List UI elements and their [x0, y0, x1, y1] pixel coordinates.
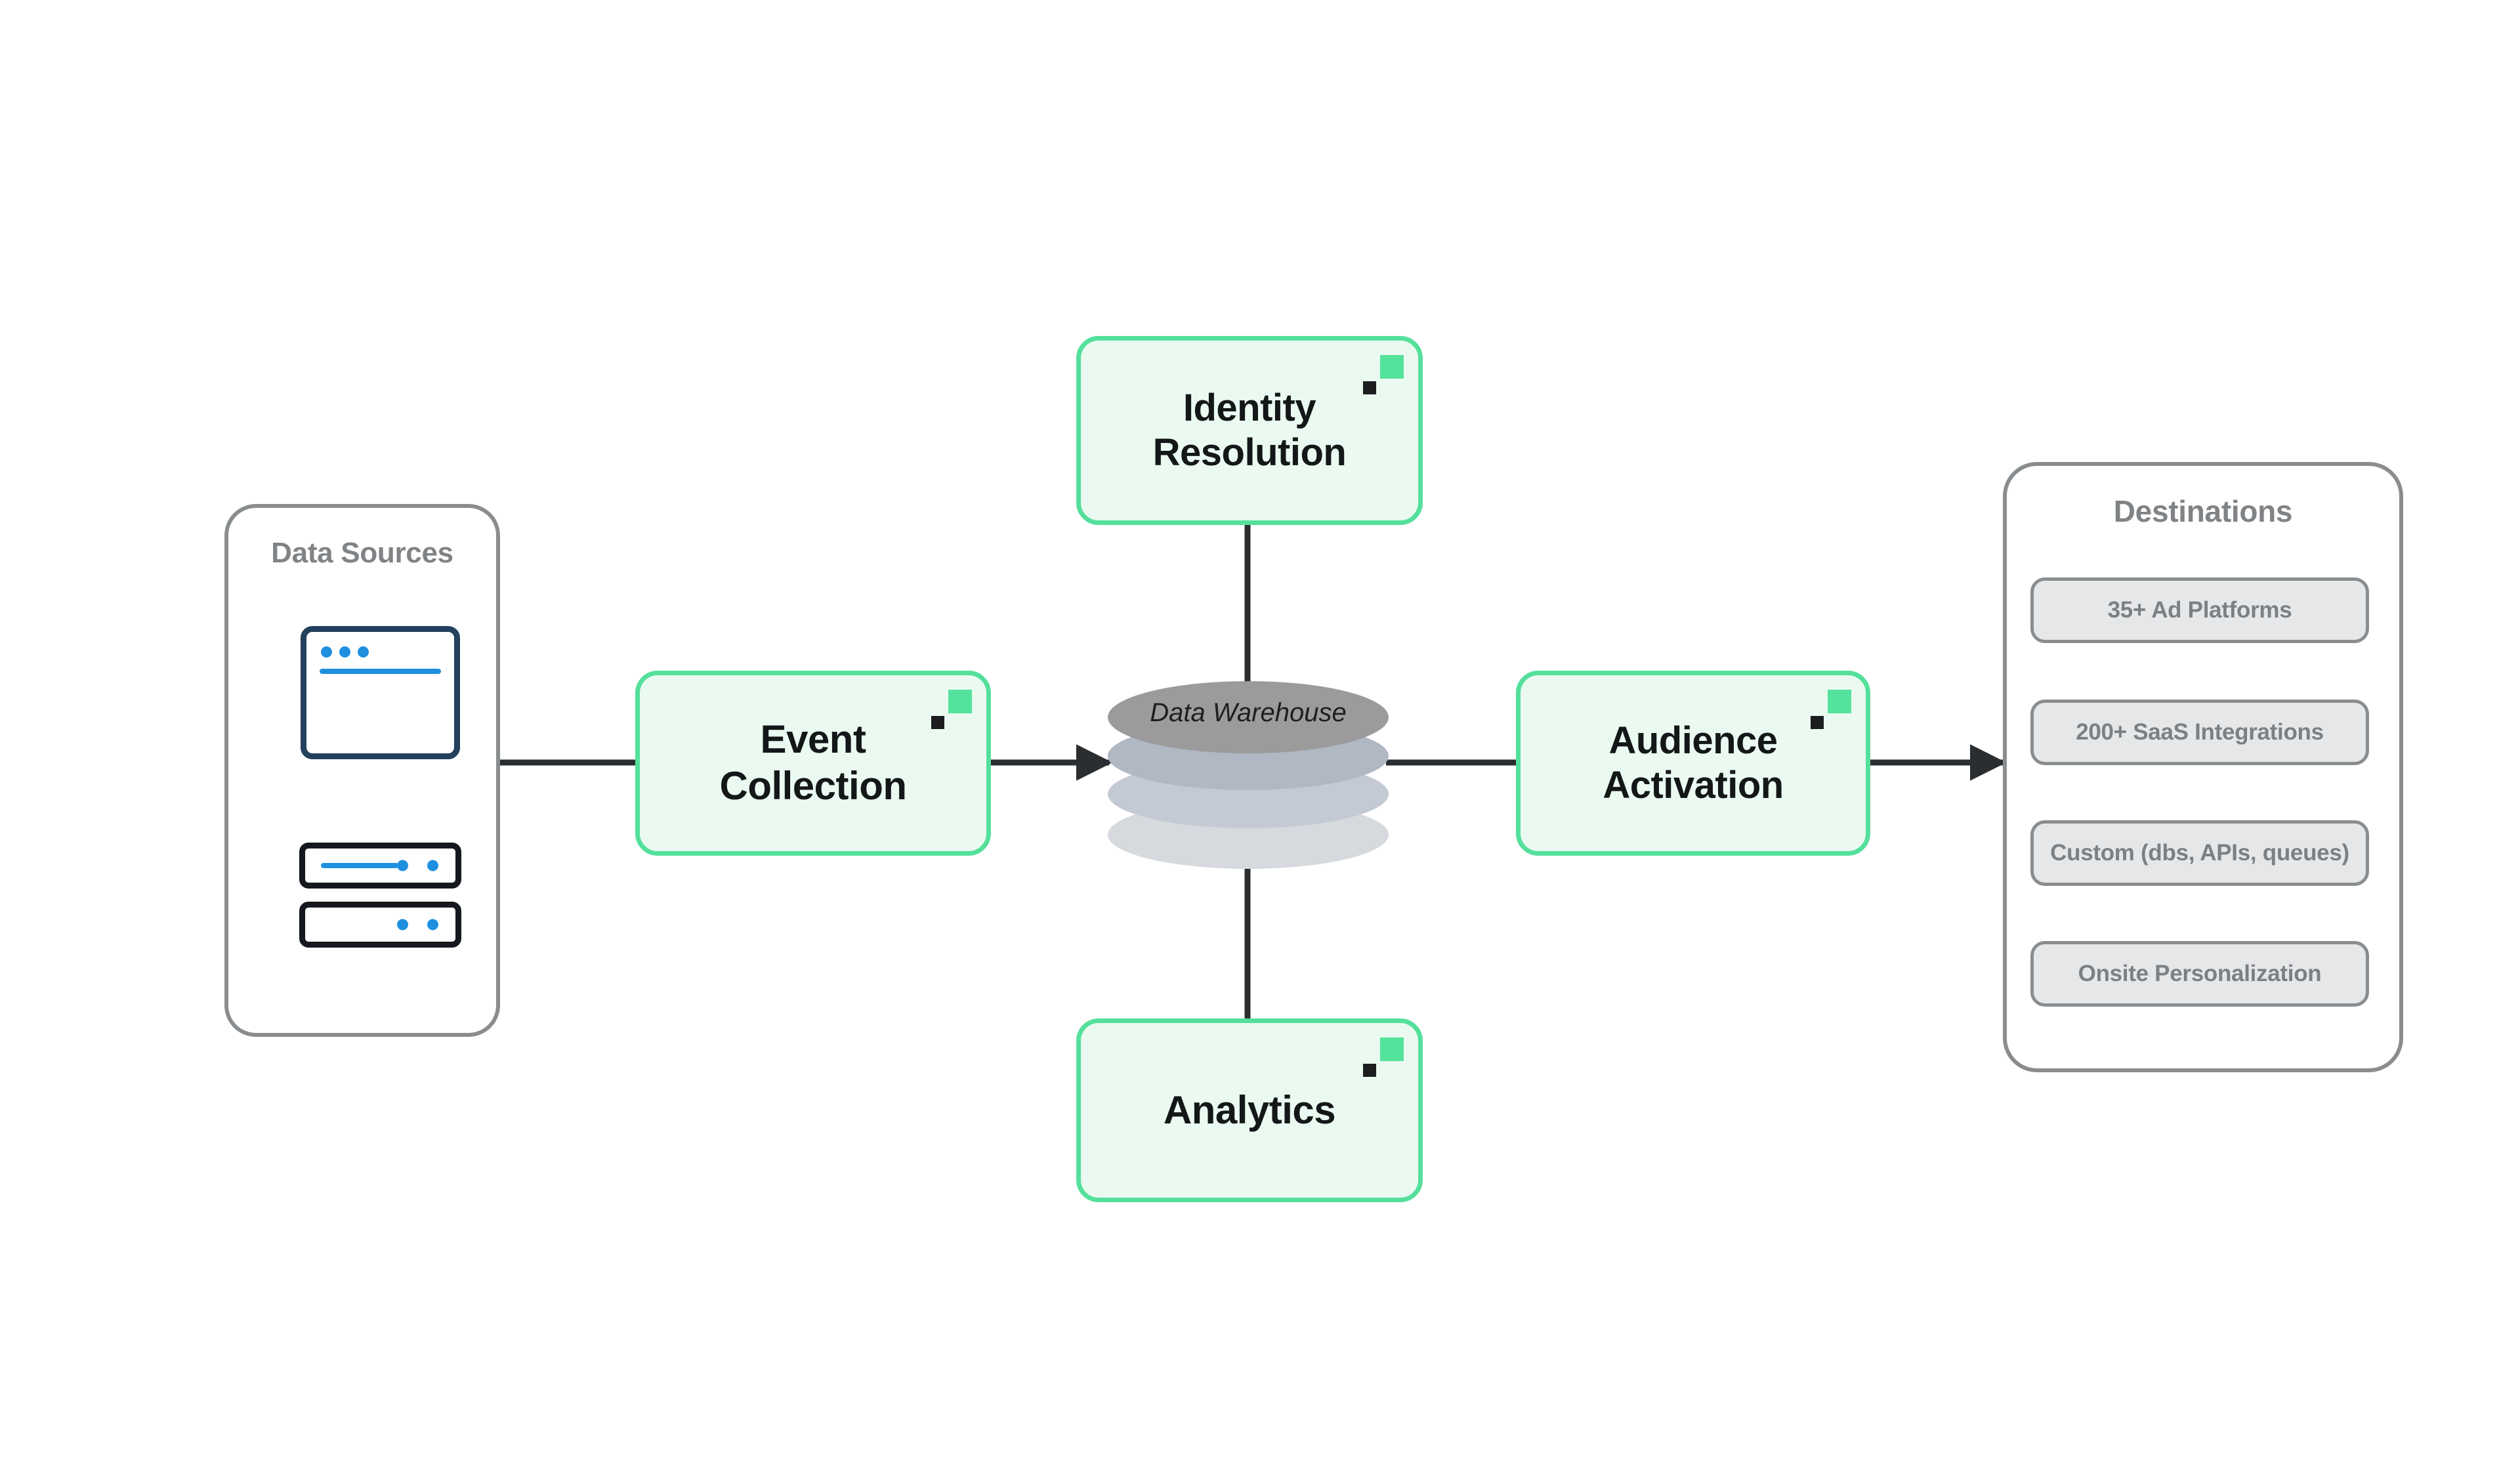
destination-chip-custom[interactable]: Custom (dbs, APIs, queues) — [2030, 820, 2369, 886]
node-badge-icon — [1363, 355, 1404, 396]
node-analytics-label: Analytics — [1146, 1087, 1353, 1134]
destination-chip-saas-integrations[interactable]: 200+ SaaS Integrations — [2030, 700, 2369, 765]
node-badge-icon — [1363, 1037, 1404, 1078]
destination-chip-label: 35+ Ad Platforms — [2108, 597, 2292, 623]
node-event-collection-label: Event Collection — [702, 717, 923, 810]
node-identity-resolution[interactable]: Identity Resolution — [1076, 336, 1423, 525]
destination-chip-onsite-personalization[interactable]: Onsite Personalization — [2030, 941, 2369, 1007]
browser-window-icon — [301, 626, 460, 759]
destination-chip-label: 200+ SaaS Integrations — [2076, 719, 2324, 745]
data-warehouse-label: Data Warehouse — [1097, 698, 1399, 728]
destination-chip-label: Onsite Personalization — [2078, 961, 2322, 987]
data-sources-title: Data Sources — [228, 537, 496, 570]
destination-chip-ad-platforms[interactable]: 35+ Ad Platforms — [2030, 577, 2369, 643]
node-identity-resolution-label: Identity Resolution — [1136, 386, 1364, 476]
server-rack-icon-top — [299, 843, 461, 889]
node-badge-icon — [931, 690, 972, 730]
node-data-warehouse[interactable]: Data Warehouse — [1097, 681, 1399, 869]
destination-chip-label: Custom (dbs, APIs, queues) — [2050, 840, 2349, 866]
node-event-collection[interactable]: Event Collection — [635, 671, 991, 856]
node-analytics[interactable]: Analytics — [1076, 1018, 1423, 1202]
data-sources-panel[interactable]: Data Sources — [224, 504, 500, 1037]
server-rack-icon-bottom — [299, 902, 461, 948]
node-audience-activation[interactable]: Audience Activation — [1516, 671, 1870, 856]
node-audience-activation-label: Audience Activation — [1585, 719, 1800, 808]
node-badge-icon — [1811, 690, 1851, 730]
destinations-panel[interactable]: Destinations 35+ Ad Platforms 200+ SaaS … — [2003, 462, 2403, 1072]
destinations-title: Destinations — [2007, 493, 2399, 529]
diagram-canvas: Data Sources Event Collection — [0, 0, 2520, 1466]
